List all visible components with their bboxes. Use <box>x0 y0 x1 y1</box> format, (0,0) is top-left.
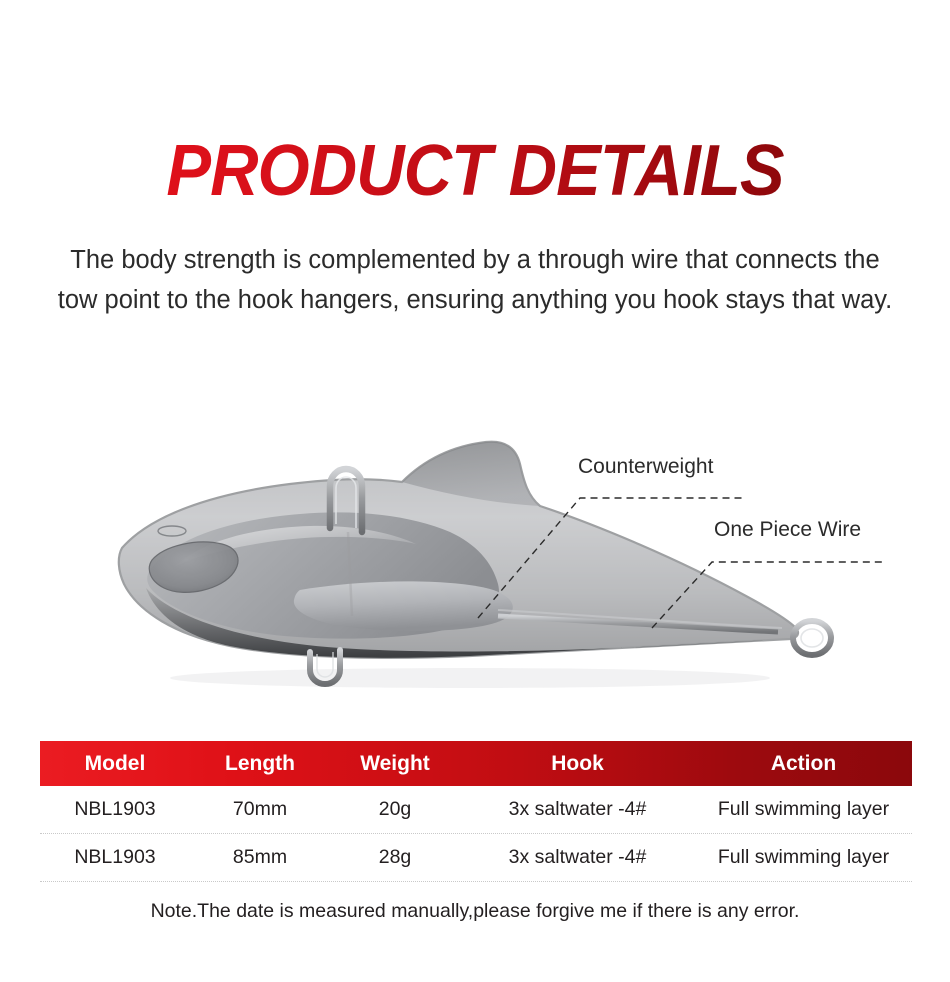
table-row: NBL1903 85mm 28g 3x saltwater -4# Full s… <box>40 834 912 882</box>
column-header-hook: Hook <box>460 752 695 776</box>
callout-label-counterweight: Counterweight <box>578 455 713 479</box>
spec-table: Model Length Weight Hook Action NBL1903 … <box>40 741 912 882</box>
cell-model: NBL1903 <box>40 798 190 821</box>
cell-length: 85mm <box>190 846 330 869</box>
cell-length: 70mm <box>190 798 330 821</box>
tail-hook-hanger-highlight <box>801 629 823 647</box>
spec-table-header-row: Model Length Weight Hook Action <box>40 741 912 786</box>
spec-table-note: Note.The date is measured manually,pleas… <box>0 900 950 923</box>
product-description: The body strength is complemented by a t… <box>55 240 895 320</box>
tail-hook-hanger-loop <box>793 621 831 655</box>
callout-label-one-piece-wire: One Piece Wire <box>714 518 861 542</box>
table-row: NBL1903 70mm 20g 3x saltwater -4# Full s… <box>40 786 912 834</box>
column-header-weight: Weight <box>330 752 460 776</box>
page-title: PRODUCT DETAILS <box>33 132 917 210</box>
cell-action: Full swimming layer <box>695 846 912 869</box>
cell-hook: 3x saltwater -4# <box>460 798 695 821</box>
cell-weight: 28g <box>330 846 460 869</box>
cell-hook: 3x saltwater -4# <box>460 846 695 869</box>
cell-action: Full swimming layer <box>695 798 912 821</box>
cell-weight: 20g <box>330 798 460 821</box>
column-header-length: Length <box>190 752 330 776</box>
lure-shadow <box>170 668 770 688</box>
column-header-model: Model <box>40 752 190 776</box>
product-image <box>0 420 950 720</box>
column-header-action: Action <box>695 752 912 776</box>
cell-model: NBL1903 <box>40 846 190 869</box>
lure-illustration <box>0 420 950 720</box>
